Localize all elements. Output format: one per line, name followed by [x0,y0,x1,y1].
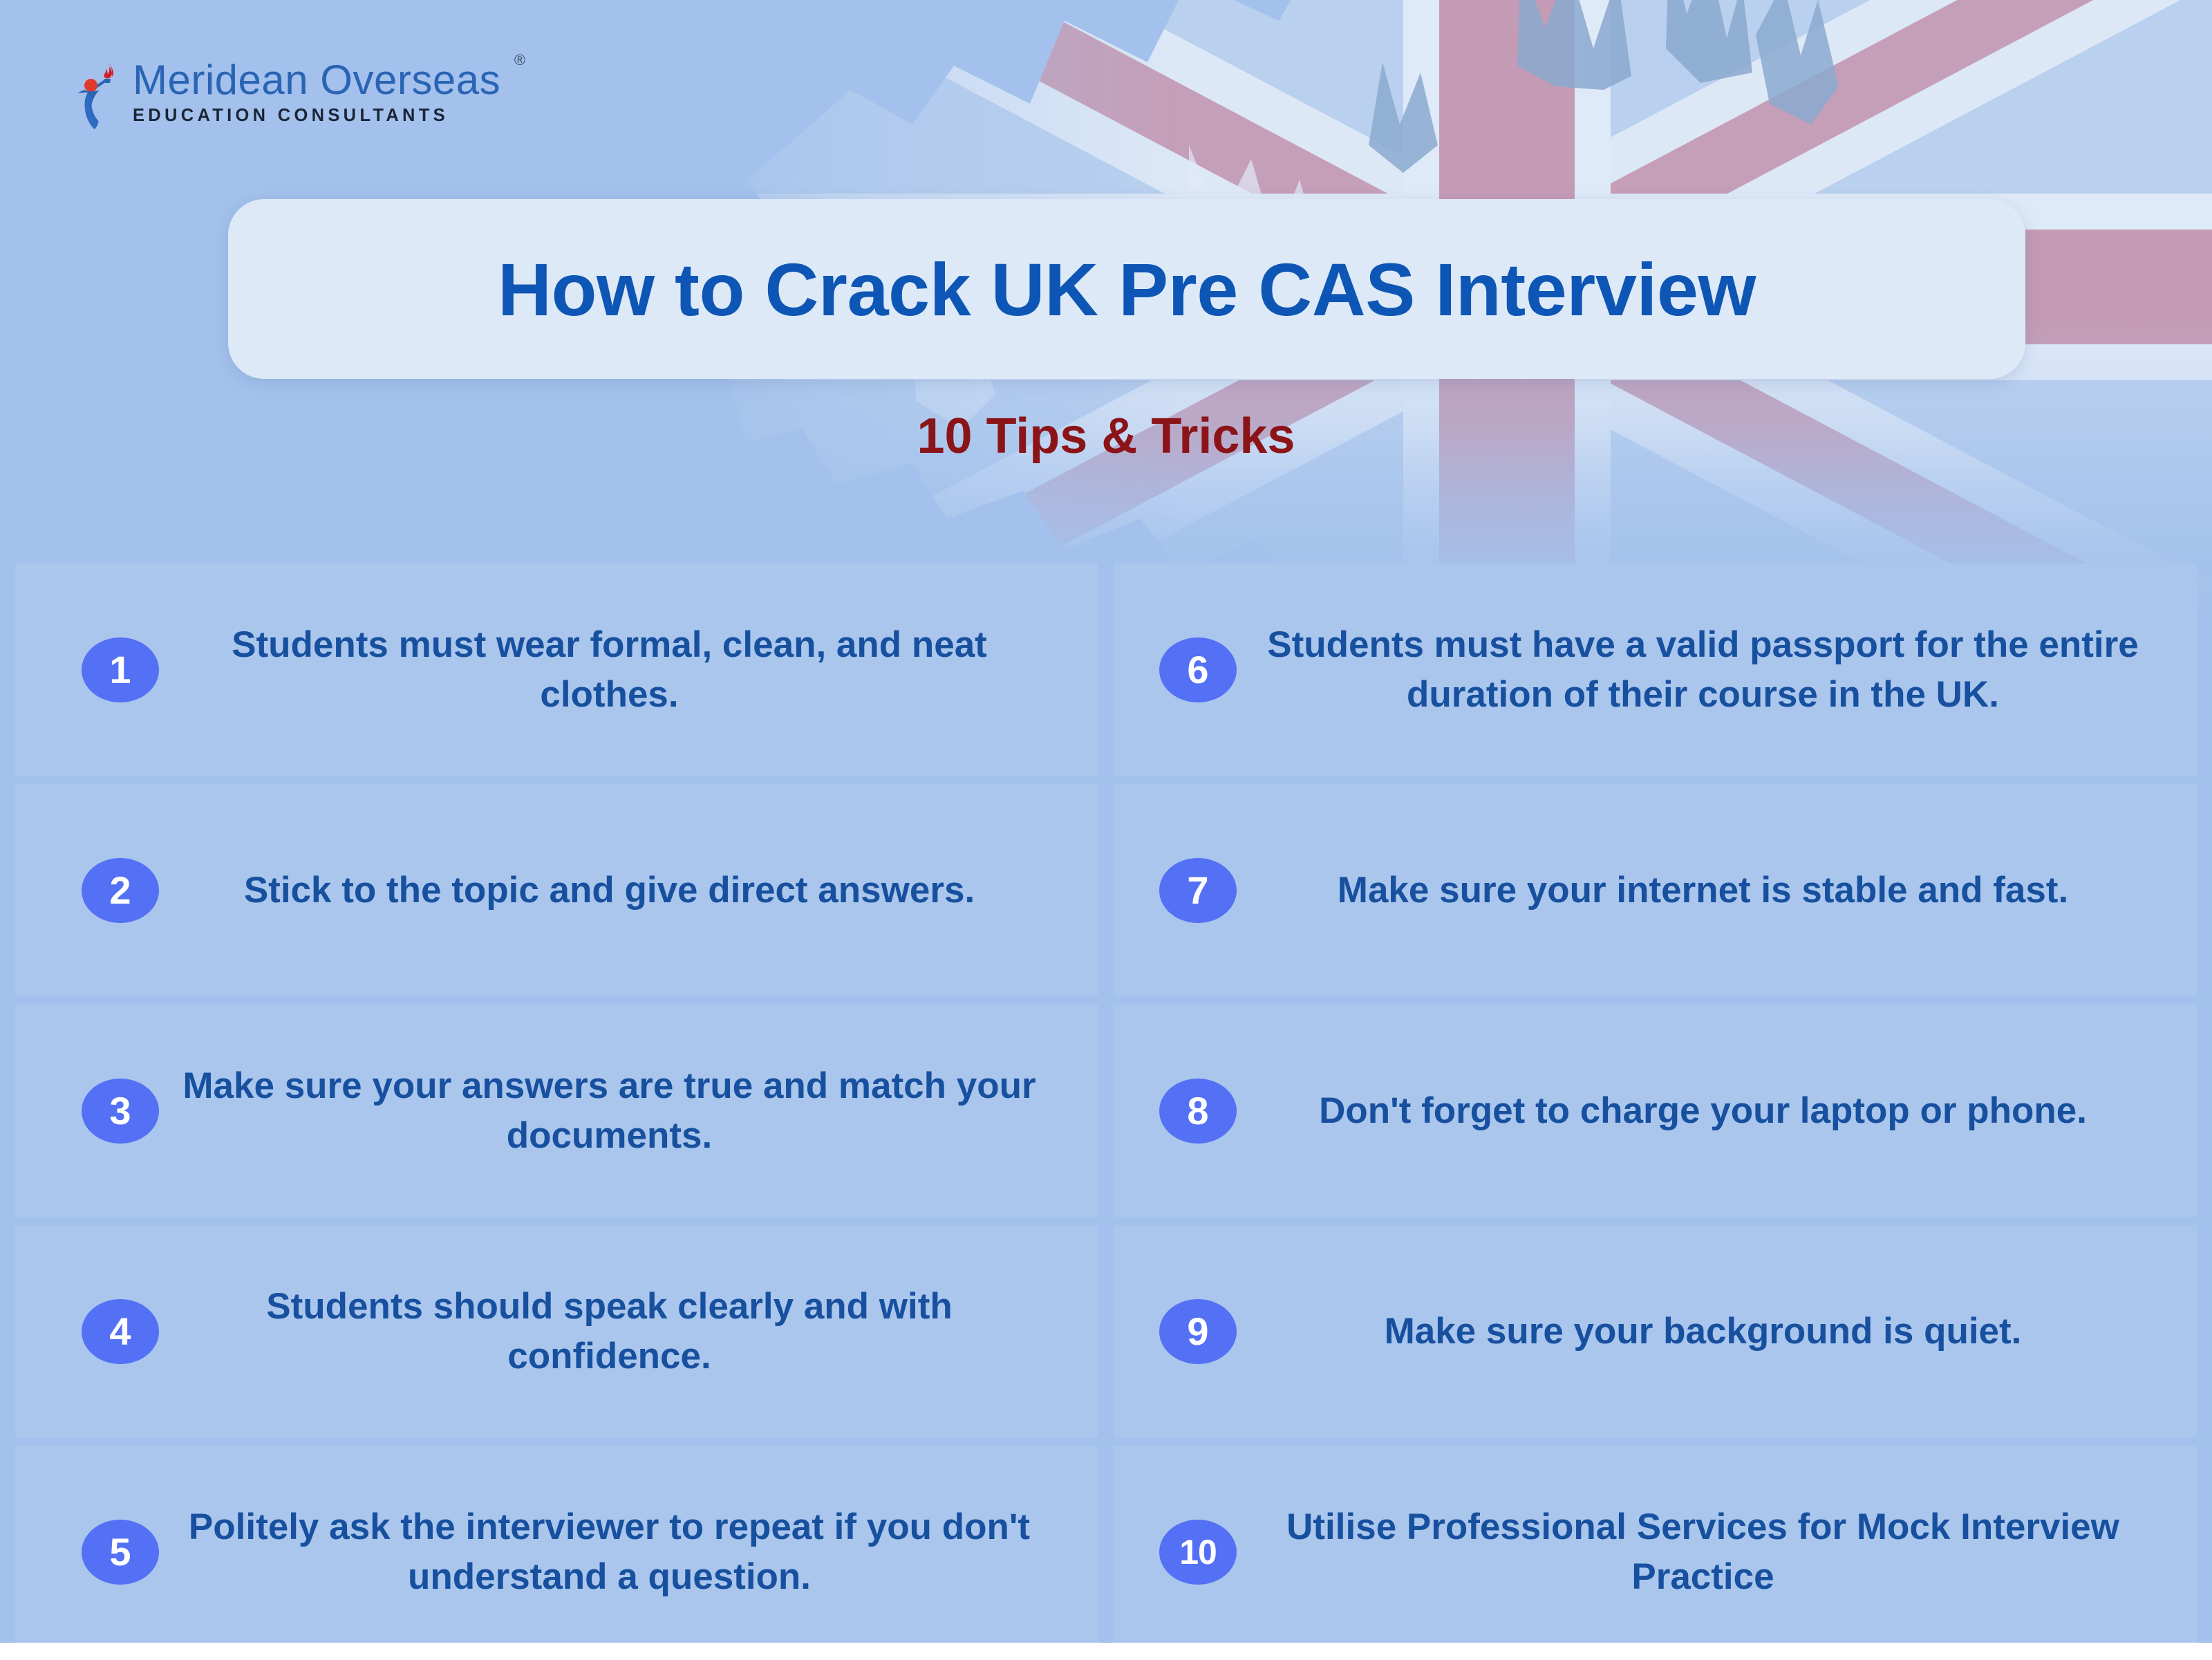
tip-number-badge: 2 [82,858,159,923]
tip-text: Students must have a valid passport for … [1255,620,2179,718]
brand-logo: Meridean Overseas ® EDUCATION CONSULTANT… [77,59,500,131]
page-title: How to Crack UK Pre CAS Interview [498,246,1756,333]
tip-card: 5 Politely ask the interviewer to repeat… [15,1446,1098,1658]
tip-number-badge: 9 [1159,1299,1237,1364]
tip-number-badge: 6 [1159,637,1237,702]
tip-text: Utilise Professional Services for Mock I… [1255,1502,2179,1601]
logo-name: Meridean Overseas [133,59,500,101]
tip-number-badge: 1 [82,637,159,702]
tip-card: 2 Stick to the topic and give direct ans… [15,784,1098,996]
title-plate: How to Crack UK Pre CAS Interview [228,199,2025,379]
infographic-page: Meridean Overseas ® EDUCATION CONSULTANT… [0,0,2212,1660]
logo-tagline: EDUCATION CONSULTANTS [133,107,500,125]
bottom-band [0,1643,2212,1660]
tip-text: Stick to the topic and give direct answe… [177,866,1080,915]
tip-text: Politely ask the interviewer to repeat i… [177,1502,1080,1601]
tip-card: 1 Students must wear formal, clean, and … [15,563,1098,776]
torch-bearer-icon [77,59,122,131]
tip-number-badge: 4 [82,1299,159,1364]
tip-text: Students must wear formal, clean, and ne… [177,620,1080,718]
tip-number-badge: 8 [1159,1079,1237,1144]
tip-text: Make sure your answers are true and matc… [177,1061,1080,1159]
registered-trademark-icon: ® [514,53,525,68]
tip-text: Make sure your background is quiet. [1255,1307,2179,1356]
logo-wordmark: Meridean Overseas ® EDUCATION CONSULTANT… [133,59,500,125]
tip-text: Don't forget to charge your laptop or ph… [1255,1086,2179,1135]
tip-card: 10 Utilise Professional Services for Moc… [1114,1446,2197,1658]
tip-card: 8 Don't forget to charge your laptop or … [1114,1005,2197,1217]
tip-text: Make sure your internet is stable and fa… [1255,866,2179,915]
tip-card: 9 Make sure your background is quiet. [1114,1225,2197,1437]
tip-card: 6 Students must have a valid passport fo… [1114,563,2197,776]
tips-grid: 1 Students must wear formal, clean, and … [15,563,2197,1658]
tip-number-badge: 5 [82,1520,159,1585]
tip-number-badge: 3 [82,1079,159,1144]
tip-card: 3 Make sure your answers are true and ma… [15,1005,1098,1217]
tip-card: 4 Students should speak clearly and with… [15,1225,1098,1437]
tip-number-badge: 10 [1159,1520,1237,1585]
tip-text: Students should speak clearly and with c… [177,1282,1080,1380]
tip-number-badge: 7 [1159,858,1237,923]
tip-card: 7 Make sure your internet is stable and … [1114,784,2197,996]
page-subtitle: 10 Tips & Tricks [0,408,2212,465]
